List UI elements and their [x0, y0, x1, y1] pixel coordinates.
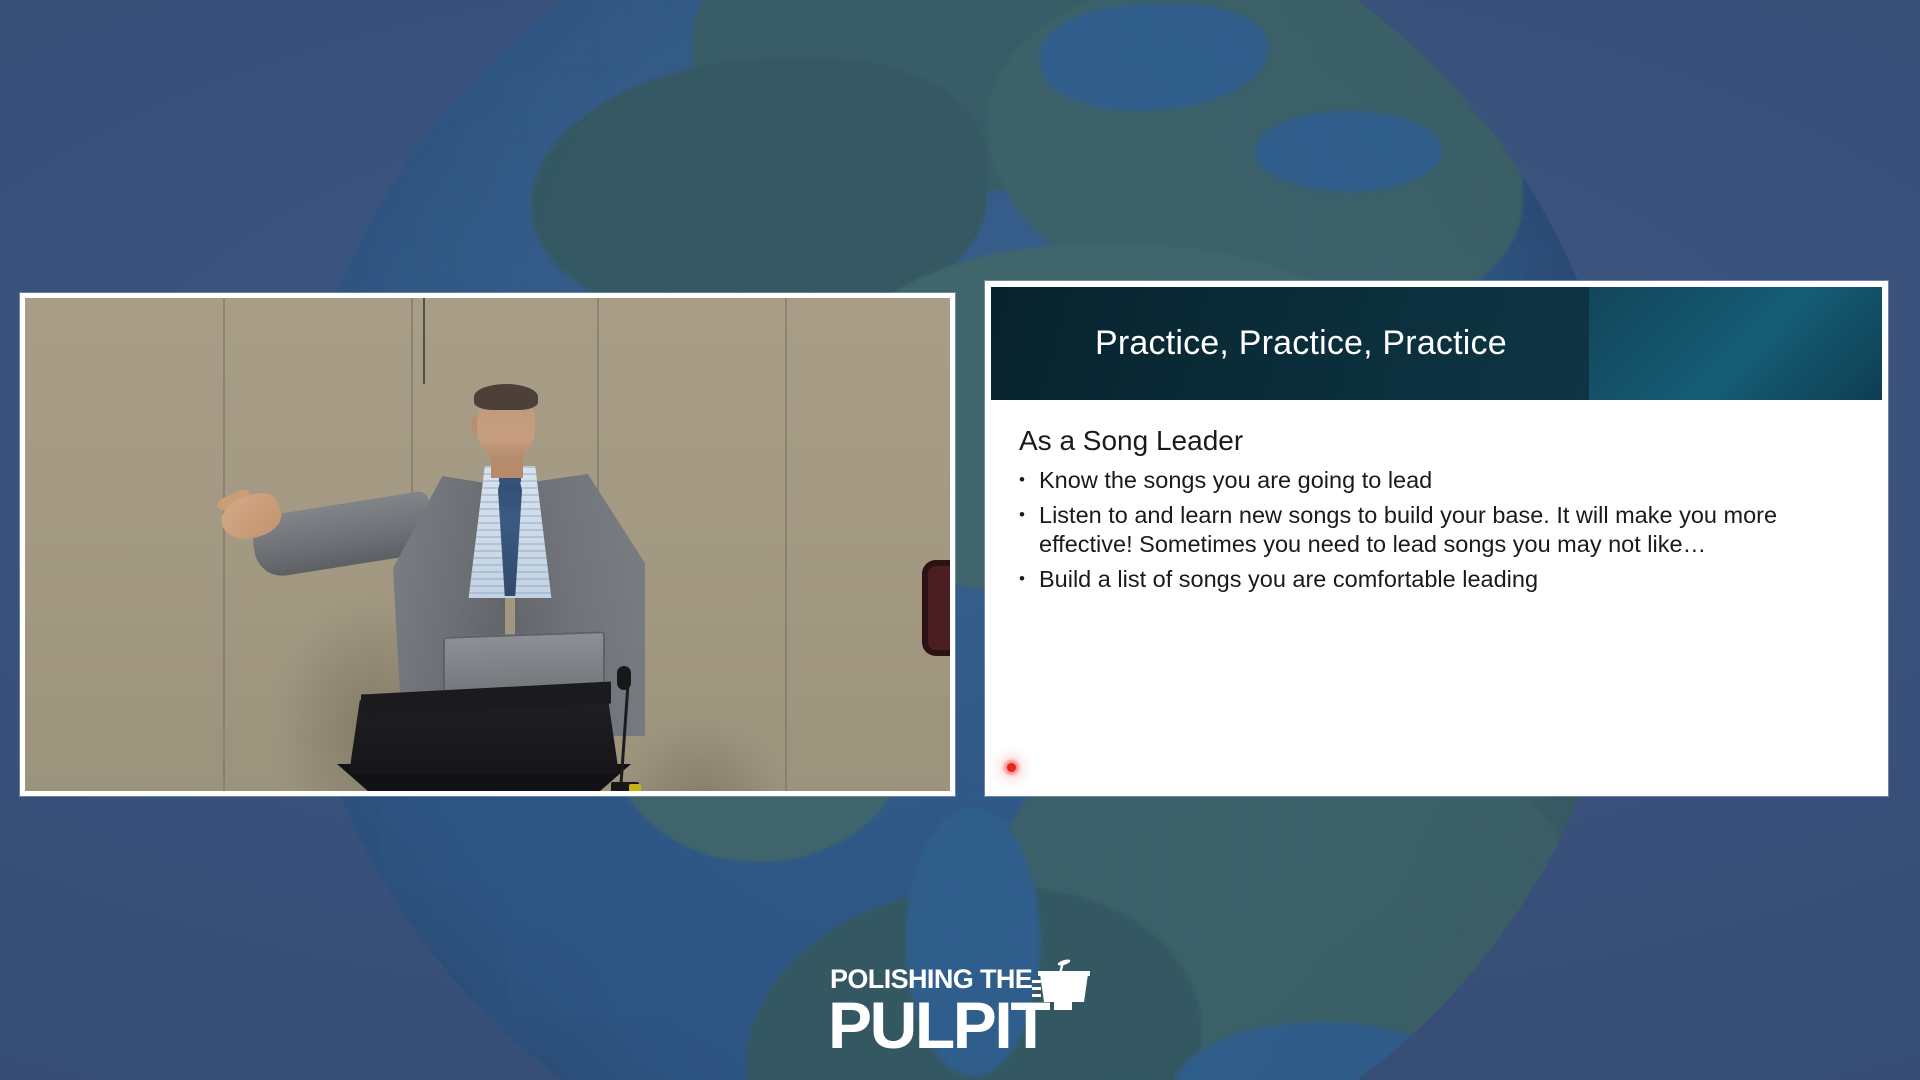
bullet-dot-icon: • [1019, 466, 1039, 495]
slide-heading: As a Song Leader [1019, 425, 1848, 456]
slide-bullet-list: • Know the songs you are going to lead •… [1019, 466, 1848, 594]
bullet-text: Build a list of songs you are comfortabl… [1039, 565, 1848, 594]
slide-content: Practice, Practice, Practice As a Song L… [991, 287, 1882, 790]
slide-panel[interactable]: Practice, Practice, Practice As a Song L… [985, 281, 1888, 796]
slide-title: Practice, Practice, Practice [1095, 324, 1507, 363]
bullet-text: Know the songs you are going to lead [1039, 466, 1848, 495]
ceiling-cord [423, 298, 425, 384]
list-item: • Listen to and learn new songs to build… [1019, 501, 1848, 559]
presentation-stage: Practice, Practice, Practice As a Song L… [0, 0, 1920, 1080]
microphone-head [617, 666, 631, 690]
pulpit-icon [1032, 958, 1094, 1010]
wall-seam [223, 298, 225, 791]
laser-pointer-dot [1007, 763, 1016, 772]
speaker-hair [474, 384, 538, 410]
slide-body: As a Song Leader • Know the songs you ar… [991, 400, 1882, 790]
bullet-dot-icon: • [1019, 501, 1039, 559]
logo-line-2: PULPIT [828, 992, 1048, 1058]
bullet-dot-icon: • [1019, 565, 1039, 594]
polishing-the-pulpit-logo: POLISHING THE PULPIT [830, 960, 1095, 1058]
yellow-cable-tag [629, 784, 641, 791]
bullet-text: Listen to and learn new songs to build y… [1039, 501, 1848, 559]
list-item: • Build a list of songs you are comforta… [1019, 565, 1848, 594]
chair-back [922, 560, 950, 656]
title-band-light [1589, 287, 1882, 400]
speaker-video-panel[interactable] [20, 293, 955, 796]
slide-title-bar: Practice, Practice, Practice [991, 287, 1882, 400]
list-item: • Know the songs you are going to lead [1019, 466, 1848, 495]
wall-seam [785, 298, 787, 791]
video-feed [25, 298, 950, 791]
